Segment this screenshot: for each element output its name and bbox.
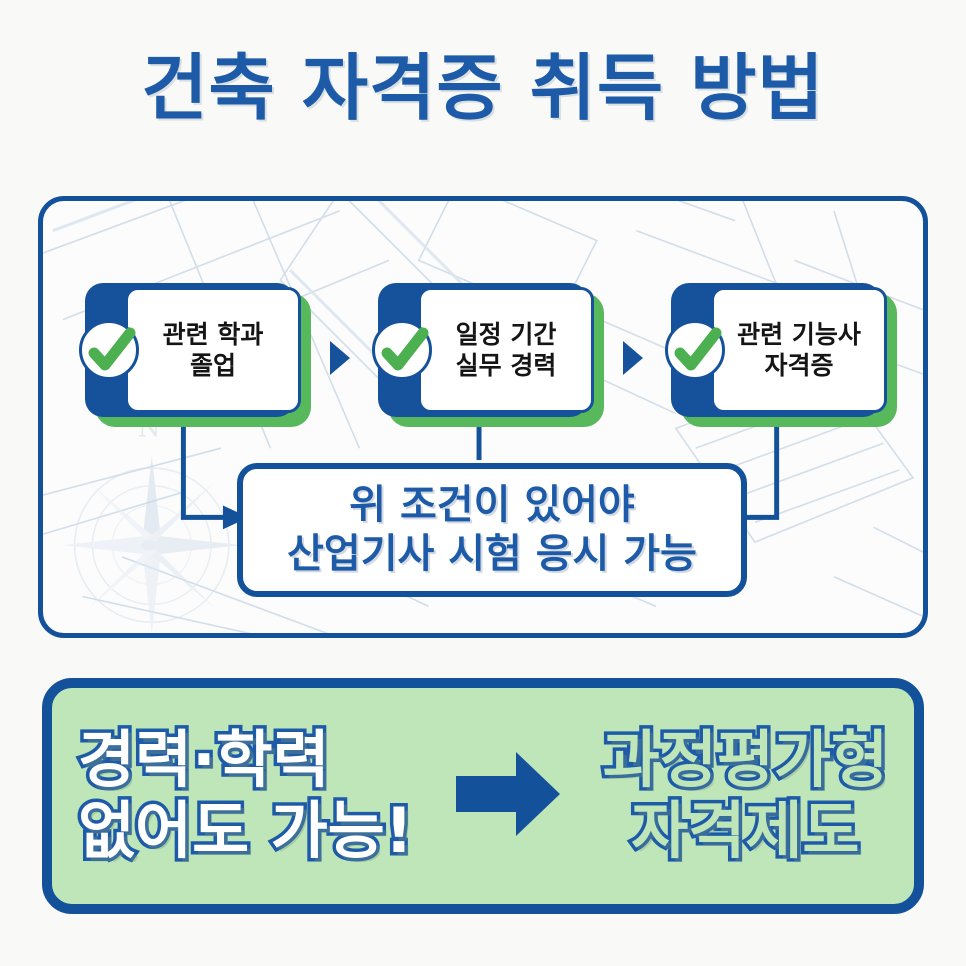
card-2-line-2: 실무 경력 [456,351,557,381]
banner-right-line-2: 자격제도 [603,798,888,865]
banner-left-text: 경력·학력 없어도 가능! [78,727,413,865]
card-3-line-1: 관련 기능사 [737,320,861,350]
card-2-line-1: 일정 기간 [456,320,557,350]
card-1-line-2: 졸업 [190,351,236,381]
banner-right-line-1: 과정평가형 [603,727,888,794]
card-1-content: 관련 학과 졸업 [125,287,301,413]
flow-chart-panel: N E 관련 학과 졸업 [38,196,928,638]
check-circle-icon [79,320,139,380]
card-2-content: 일정 기간 실무 경력 [418,287,594,413]
card-3-content: 관련 기능사 자격증 [711,287,887,413]
bottom-banner: 경력·학력 없어도 가능! 과정평가형 자격제도 [42,678,924,914]
flow-card-2[interactable]: 일정 기간 실무 경력 [372,283,604,427]
arrow-right-icon [454,748,562,844]
triangle-right-icon [330,341,350,375]
card-3-line-2: 자격증 [764,351,833,381]
banner-left-line-2: 없어도 가능! [78,798,413,865]
page-title: 건축 자격증 취득 방법 [0,52,966,124]
center-box-line-1: 위 조건이 있어야 [349,482,634,529]
card-1-line-1: 관련 학과 [163,320,264,350]
center-box-line-2: 산업기사 시험 응시 가능 [287,531,697,578]
triangle-right-icon [623,341,643,375]
flow-card-3[interactable]: 관련 기능사 자격증 [665,283,897,427]
check-circle-icon [372,320,432,380]
flow-card-1[interactable]: 관련 학과 졸업 [79,283,311,427]
banner-right-text: 과정평가형 자격제도 [603,727,888,865]
center-summary-box: 위 조건이 있어야 산업기사 시험 응시 가능 [237,463,747,597]
check-circle-icon [665,320,725,380]
banner-left-line-1: 경력·학력 [78,727,413,794]
